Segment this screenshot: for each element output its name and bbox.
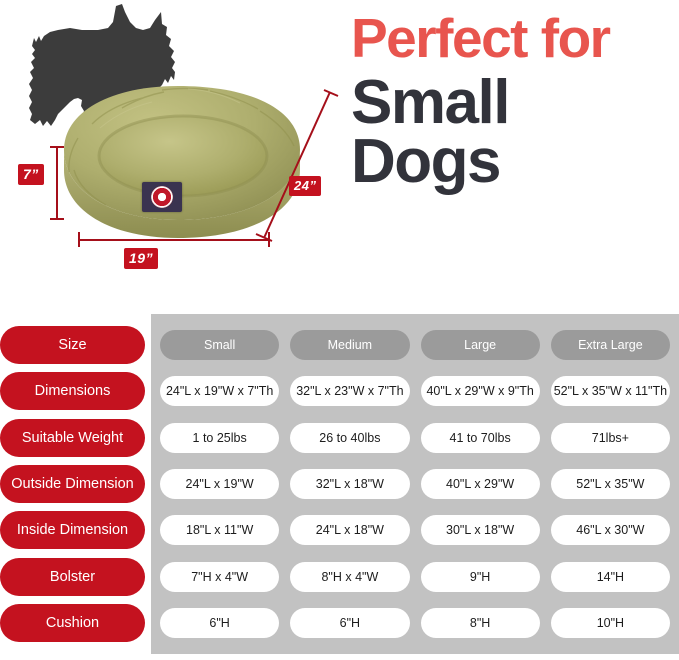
row-label-size: Size [0, 326, 145, 364]
table-cell: 6"H [160, 608, 279, 638]
size-chart-grid: Size Small Medium Large Extra Large Dime… [0, 314, 679, 654]
callout-bed-width: 19” [124, 248, 158, 269]
table-header-row: Size Small Medium Large Extra Large [0, 322, 670, 368]
callout-bolster-height: 7” [18, 164, 44, 185]
length-rule-line [250, 88, 340, 248]
table-cell: 10"H [551, 608, 670, 638]
column-header-large: Large [421, 330, 540, 360]
row-cells: 24"L x 19"W x 7"Th 32"L x 23"W x 7"Th 40… [160, 376, 670, 406]
table-cell: 71lbs+ [551, 423, 670, 453]
row-label-bolster: Bolster [0, 558, 145, 596]
height-rule-cap-bottom [50, 218, 64, 220]
headline-line-2: Small [351, 75, 673, 131]
height-rule-cap-top [50, 146, 64, 148]
column-header-small: Small [160, 330, 279, 360]
hero-headline: Perfect for Small Dogs [351, 14, 673, 190]
height-rule-line [56, 146, 58, 220]
row-cells: 24"L x 19"W 32"L x 18"W 40"L x 29"W 52"L… [160, 469, 670, 499]
table-row: Dimensions 24"L x 19"W x 7"Th 32"L x 23"… [0, 368, 670, 414]
table-row: Inside Dimension 18"L x 11"W 24"L x 18"W… [0, 507, 670, 553]
table-cell: 24"L x 19"W x 7"Th [160, 376, 279, 406]
table-cell: 52"L x 35"W [551, 469, 670, 499]
column-header-medium: Medium [290, 330, 409, 360]
table-cell: 8"H [421, 608, 540, 638]
table-cell: 24"L x 18"W [290, 515, 409, 545]
table-cell: 6"H [290, 608, 409, 638]
table-row: Suitable Weight 1 to 25lbs 26 to 40lbs 4… [0, 415, 670, 461]
row-cells: 18"L x 11"W 24"L x 18"W 30"L x 18"W 46"L… [160, 515, 670, 545]
row-label-suitable-weight: Suitable Weight [0, 419, 145, 457]
table-cell: 40"L x 29"W x 9"Th [421, 376, 540, 406]
table-cell: 1 to 25lbs [160, 423, 279, 453]
table-cell: 26 to 40lbs [290, 423, 409, 453]
row-label-outside-dimension: Outside Dimension [0, 465, 145, 503]
table-cell: 40"L x 29"W [421, 469, 540, 499]
table-cell: 32"L x 18"W [290, 469, 409, 499]
header-cells: Small Medium Large Extra Large [160, 330, 670, 360]
row-label-inside-dimension: Inside Dimension [0, 511, 145, 549]
row-cells: 7"H x 4"W 8"H x 4"W 9"H 14"H [160, 562, 670, 592]
table-cell: 8"H x 4"W [290, 562, 409, 592]
table-row: Cushion 6"H 6"H 8"H 10"H [0, 600, 670, 646]
width-rule-line [78, 239, 270, 241]
width-rule-cap-left [78, 232, 80, 247]
row-cells: 1 to 25lbs 26 to 40lbs 41 to 70lbs 71lbs… [160, 423, 670, 453]
table-cell: 52"L x 35"W x 11"Th [551, 376, 670, 406]
table-cell: 9"H [421, 562, 540, 592]
table-row: Outside Dimension 24"L x 19"W 32"L x 18"… [0, 461, 670, 507]
table-cell: 46"L x 30"W [551, 515, 670, 545]
brand-logo-mark [151, 186, 173, 208]
headline-line-1: Perfect for [351, 14, 673, 64]
headline-line-3: Dogs [351, 134, 673, 190]
majestic-pet-logo-tag [142, 182, 182, 212]
column-header-extra-large: Extra Large [551, 330, 670, 360]
row-label-cushion: Cushion [0, 604, 145, 642]
table-cell: 14"H [551, 562, 670, 592]
table-cell: 7"H x 4"W [160, 562, 279, 592]
hero-banner: 7” 19” 24” Perfect for Small Dogs [0, 0, 679, 300]
callout-bed-length: 24” [289, 176, 321, 196]
row-label-dimensions: Dimensions [0, 372, 145, 410]
table-cell: 30"L x 18"W [421, 515, 540, 545]
table-cell: 32"L x 23"W x 7"Th [290, 376, 409, 406]
table-cell: 18"L x 11"W [160, 515, 279, 545]
table-cell: 24"L x 19"W [160, 469, 279, 499]
size-chart: Size Small Medium Large Extra Large Dime… [0, 306, 679, 660]
table-row: Bolster 7"H x 4"W 8"H x 4"W 9"H 14"H [0, 553, 670, 599]
table-cell: 41 to 70lbs [421, 423, 540, 453]
row-cells: 6"H 6"H 8"H 10"H [160, 608, 670, 638]
